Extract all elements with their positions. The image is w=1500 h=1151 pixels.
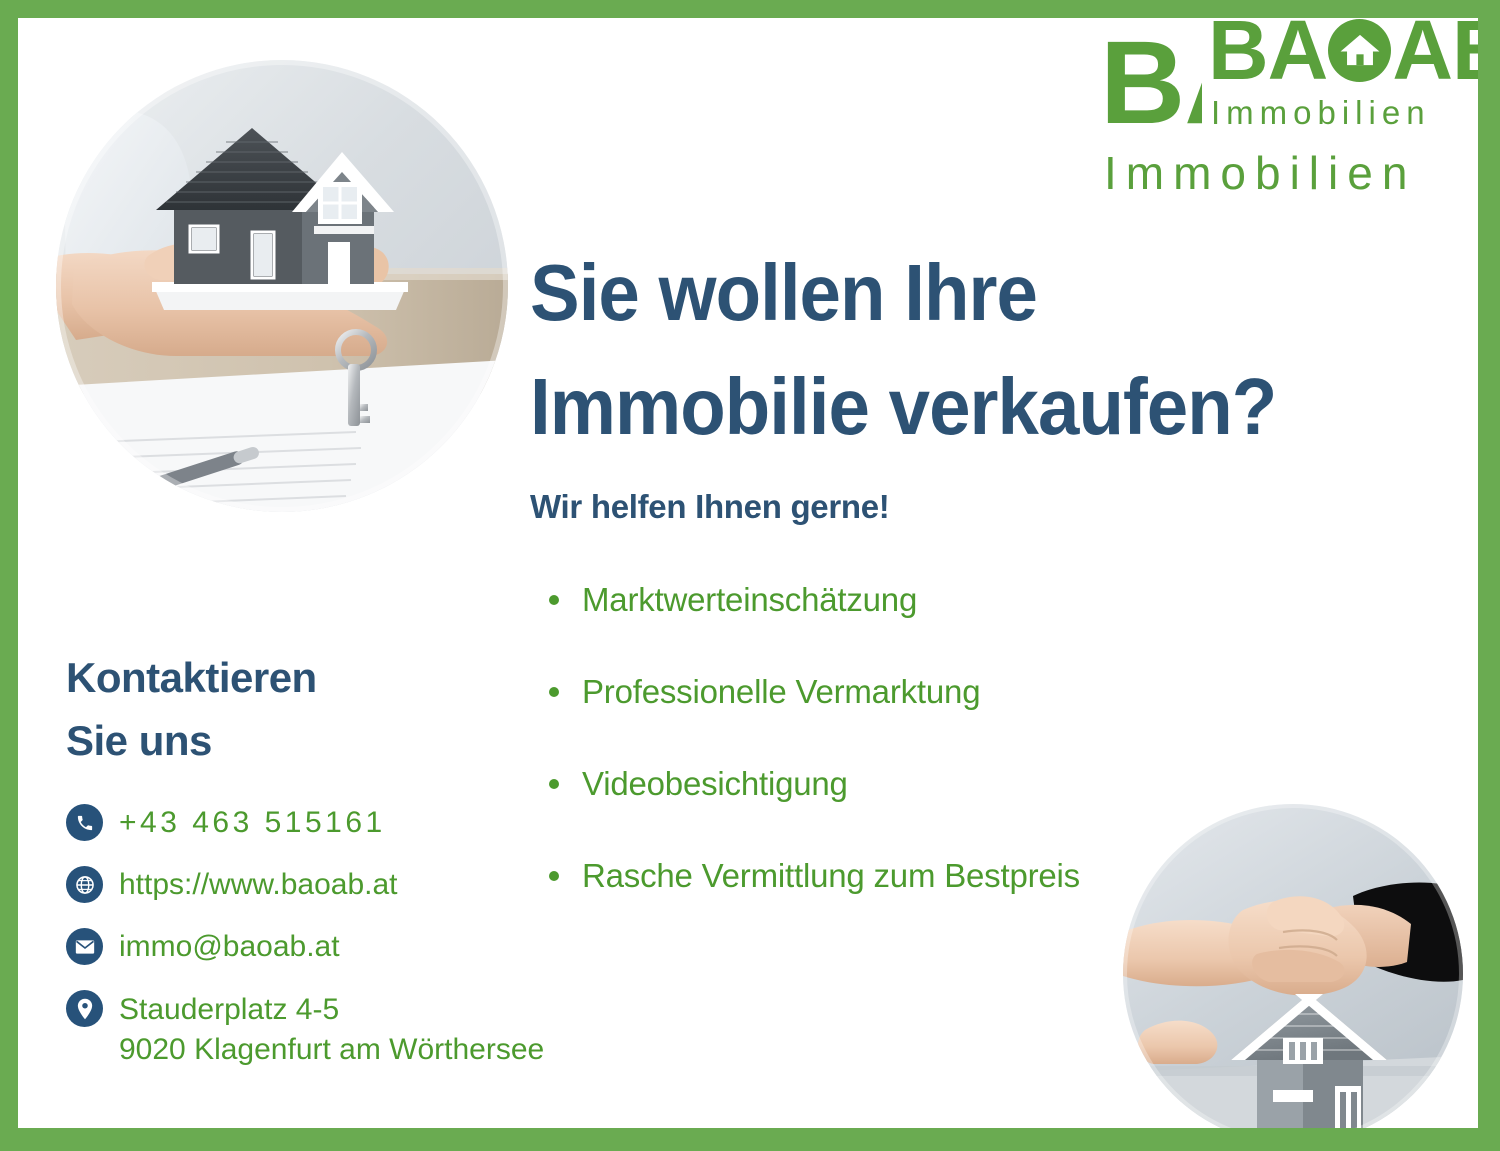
logo-wordmark-part2: AB	[1360, 24, 1478, 142]
contact-address[interactable]: Stauderplatz 4-5 9020 Klagenfurt am Wört…	[66, 990, 626, 1070]
contact-email-value: immo@baoab.at	[119, 928, 340, 966]
list-item: Videobesichtigung	[530, 767, 1230, 800]
company-logo: BA AB Immobilien BA	[1108, 18, 1478, 203]
benefit-label: Rasche Vermittlung zum Bestpreis	[582, 857, 1080, 894]
list-item: Marktwerteinschätzung	[530, 583, 1230, 616]
logo-wordmark-back: BA AB	[1100, 24, 1478, 142]
contact-email[interactable]: immo@baoab.at	[66, 928, 626, 966]
benefits-list: Marktwerteinschätzung Professionelle Ver…	[530, 583, 1230, 951]
logo-subtitle-front: Immobilien	[1211, 94, 1478, 132]
page-subtitle: Wir helfen Ihnen gerne!	[530, 488, 890, 526]
benefit-label: Marktwerteinschätzung	[582, 581, 917, 618]
contact-address-value: Stauderplatz 4-5 9020 Klagenfurt am Wört…	[119, 990, 544, 1070]
list-item: Professionelle Vermarktung	[530, 675, 1230, 708]
logo-wordmark-part1: BA	[1208, 18, 1327, 92]
logo-backdrop: BA AB Immobilien	[1100, 24, 1478, 200]
logo-foreground: BA AB Immobilien	[1202, 18, 1478, 138]
logo-wordmark-front: BA AB	[1208, 18, 1478, 92]
handshake-photo	[1123, 804, 1463, 1128]
map-pin-icon	[66, 990, 103, 1027]
house-icon	[1270, 39, 1358, 127]
hand-holding-house-photo	[56, 60, 508, 512]
logo-subtitle-back: Immobilien	[1104, 146, 1478, 200]
envelope-icon	[66, 928, 103, 965]
contact-address-line2: 9020 Klagenfurt am Wörthersee	[119, 1030, 544, 1070]
benefit-label: Professionelle Vermarktung	[582, 673, 980, 710]
contact-website[interactable]: https://www.baoab.at	[66, 866, 626, 904]
contact-phone[interactable]: +43 463 515161	[66, 804, 626, 842]
flyer-frame: BA AB Immobilien BA	[0, 0, 1500, 1151]
bullet-icon	[549, 779, 559, 789]
page-title: Sie wollen Ihre Immobilie verkaufen?	[530, 236, 1395, 463]
phone-icon	[66, 804, 103, 841]
bullet-icon	[549, 595, 559, 605]
contact-heading-line1: Kontaktieren	[66, 646, 446, 709]
contact-details: +43 463 515161 https://www.baoab.at	[66, 804, 626, 1094]
logo-wordmark-part1: BA	[1100, 24, 1268, 142]
bullet-icon	[549, 687, 559, 697]
list-item: Rasche Vermittlung zum Bestpreis	[530, 859, 1230, 892]
contact-heading-line2: Sie uns	[66, 709, 446, 772]
contact-heading: Kontaktieren Sie uns	[66, 646, 446, 772]
globe-icon	[66, 866, 103, 903]
flyer-canvas: BA AB Immobilien BA	[18, 18, 1478, 1128]
contact-phone-value: +43 463 515161	[119, 804, 386, 842]
logo-wordmark-part2: AB	[1392, 18, 1478, 92]
contact-website-value: https://www.baoab.at	[119, 866, 398, 904]
benefit-label: Videobesichtigung	[582, 765, 848, 802]
contact-address-line1: Stauderplatz 4-5	[119, 993, 339, 1026]
house-icon	[1328, 19, 1391, 82]
